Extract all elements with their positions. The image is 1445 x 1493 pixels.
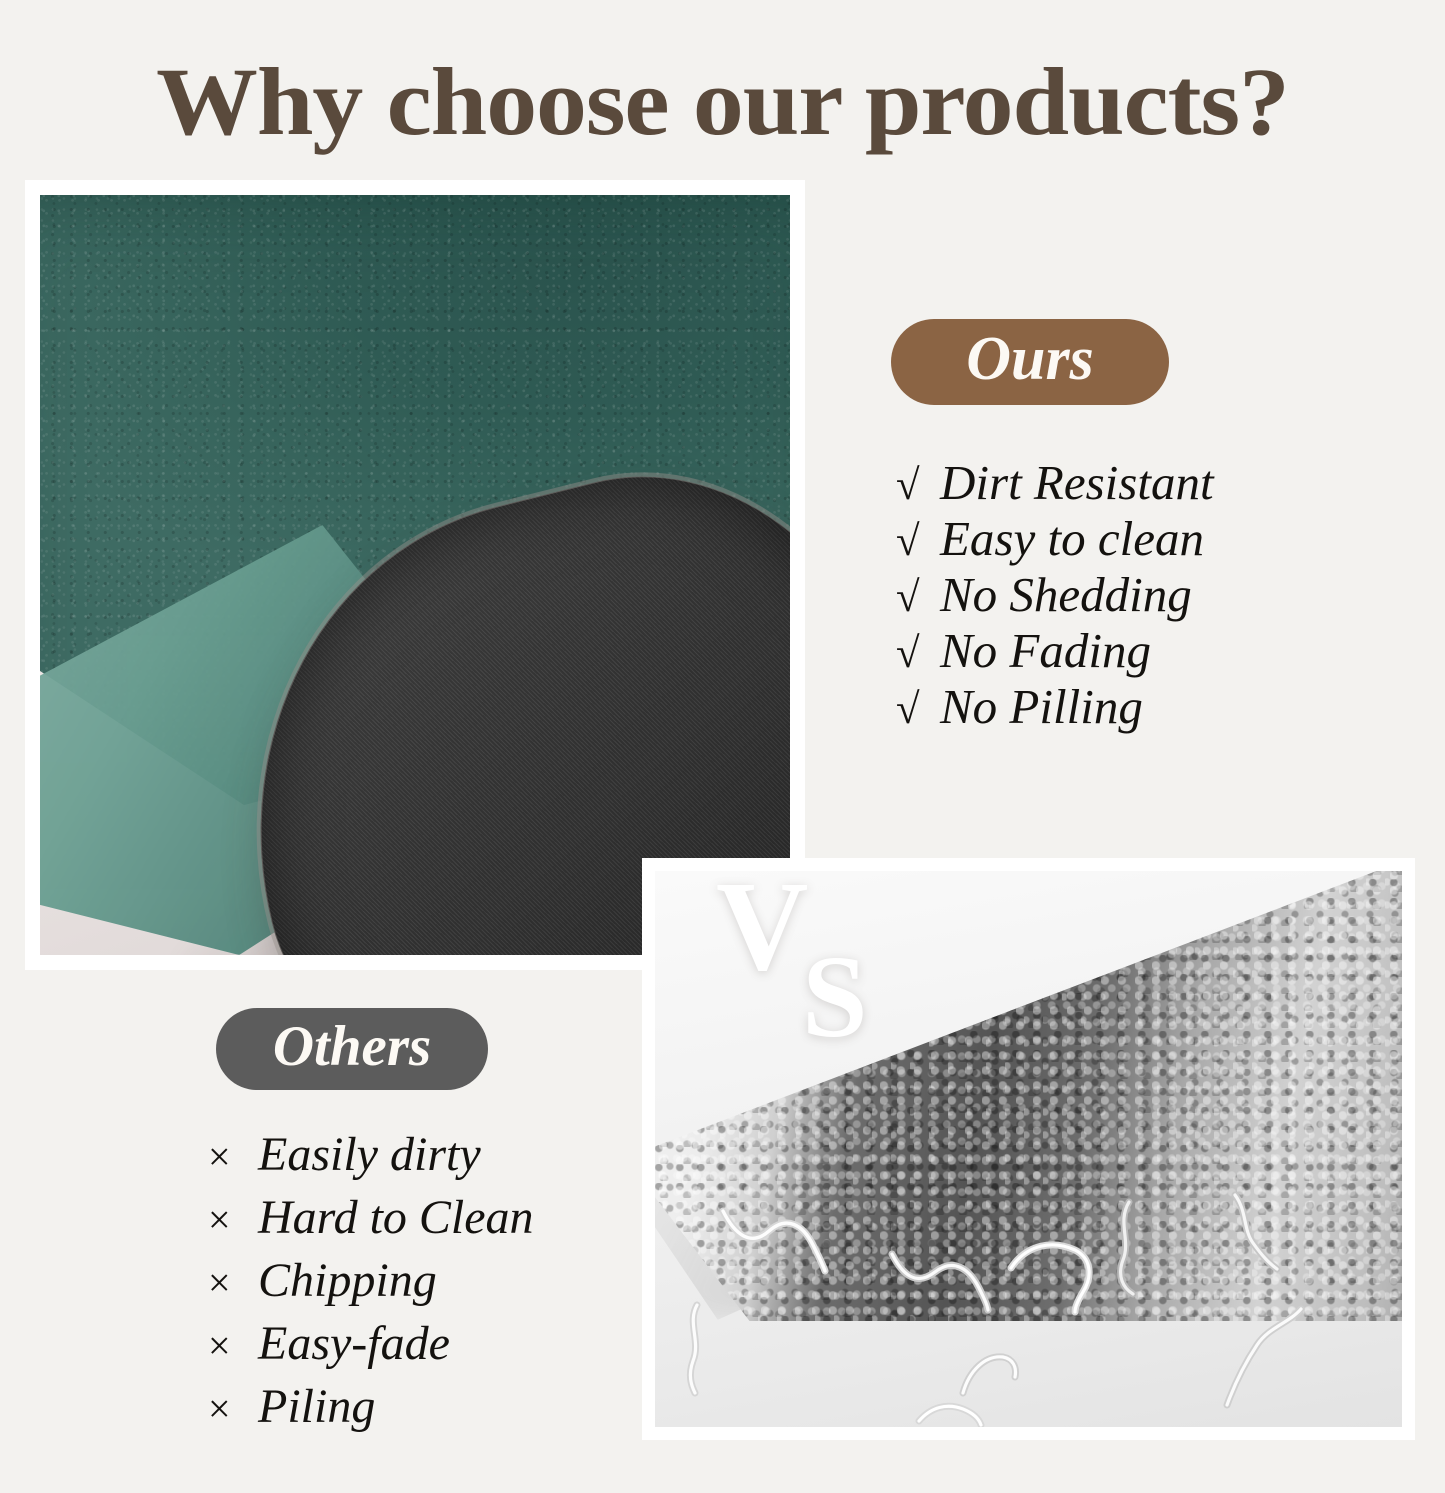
shed-fiber-icon xyxy=(1005,1236,1115,1316)
list-item: × Easy-fade xyxy=(208,1313,534,1376)
list-item: × Piling xyxy=(208,1376,534,1439)
ours-feature-list: √ Dirt Resistant √ Easy to clean √ No Sh… xyxy=(896,456,1214,736)
shed-fiber-icon xyxy=(717,1201,847,1279)
list-item: √ No Shedding xyxy=(896,568,1214,624)
list-item-label: Easily dirty xyxy=(258,1124,481,1185)
check-icon: √ xyxy=(896,571,940,624)
cross-icon: × xyxy=(208,1252,258,1313)
others-badge: Others xyxy=(216,1008,488,1090)
list-item: √ No Pilling xyxy=(896,680,1214,736)
vs-letter-v: V xyxy=(716,862,808,990)
vs-letter-s: S xyxy=(802,938,868,1056)
infographic-page: Why choose our products? xyxy=(0,0,1445,1493)
list-item: √ Easy to clean xyxy=(896,512,1214,568)
list-item: √ Dirt Resistant xyxy=(896,456,1214,512)
shed-fiber-icon xyxy=(675,1301,725,1396)
list-item-label: Piling xyxy=(258,1376,375,1437)
others-feature-list: × Easily dirty × Hard to Clean × Chippin… xyxy=(208,1124,534,1439)
list-item-label: Chipping xyxy=(258,1250,437,1311)
list-item: × Easily dirty xyxy=(208,1124,534,1187)
shed-fiber-icon xyxy=(1225,1191,1291,1273)
page-title: Why choose our products? xyxy=(0,52,1445,153)
list-item: × Hard to Clean xyxy=(208,1187,534,1250)
shed-fiber-icon xyxy=(887,1246,1005,1316)
check-icon: √ xyxy=(896,459,940,512)
cross-icon: × xyxy=(208,1189,258,1250)
ours-badge: Ours xyxy=(891,319,1169,405)
shed-fiber-icon xyxy=(1107,1198,1165,1298)
shed-fiber-icon xyxy=(913,1369,987,1427)
check-icon: √ xyxy=(896,515,940,568)
ours-product-photo xyxy=(40,195,790,955)
shed-fiber-icon xyxy=(1213,1301,1313,1411)
ours-product-photo-frame xyxy=(25,180,805,970)
check-icon: √ xyxy=(896,627,940,680)
check-icon: √ xyxy=(896,683,940,736)
list-item-label: Dirt Resistant xyxy=(940,456,1214,509)
list-item-label: Easy to clean xyxy=(940,512,1204,565)
list-item-label: Easy-fade xyxy=(258,1313,450,1374)
list-item: √ No Fading xyxy=(896,624,1214,680)
cross-icon: × xyxy=(208,1378,258,1439)
list-item-label: No Shedding xyxy=(940,568,1192,621)
cross-icon: × xyxy=(208,1126,258,1187)
list-item-label: No Pilling xyxy=(940,680,1143,733)
list-item-label: No Fading xyxy=(940,624,1151,677)
cross-icon: × xyxy=(208,1315,258,1376)
list-item-label: Hard to Clean xyxy=(258,1187,534,1248)
list-item: × Chipping xyxy=(208,1250,534,1313)
